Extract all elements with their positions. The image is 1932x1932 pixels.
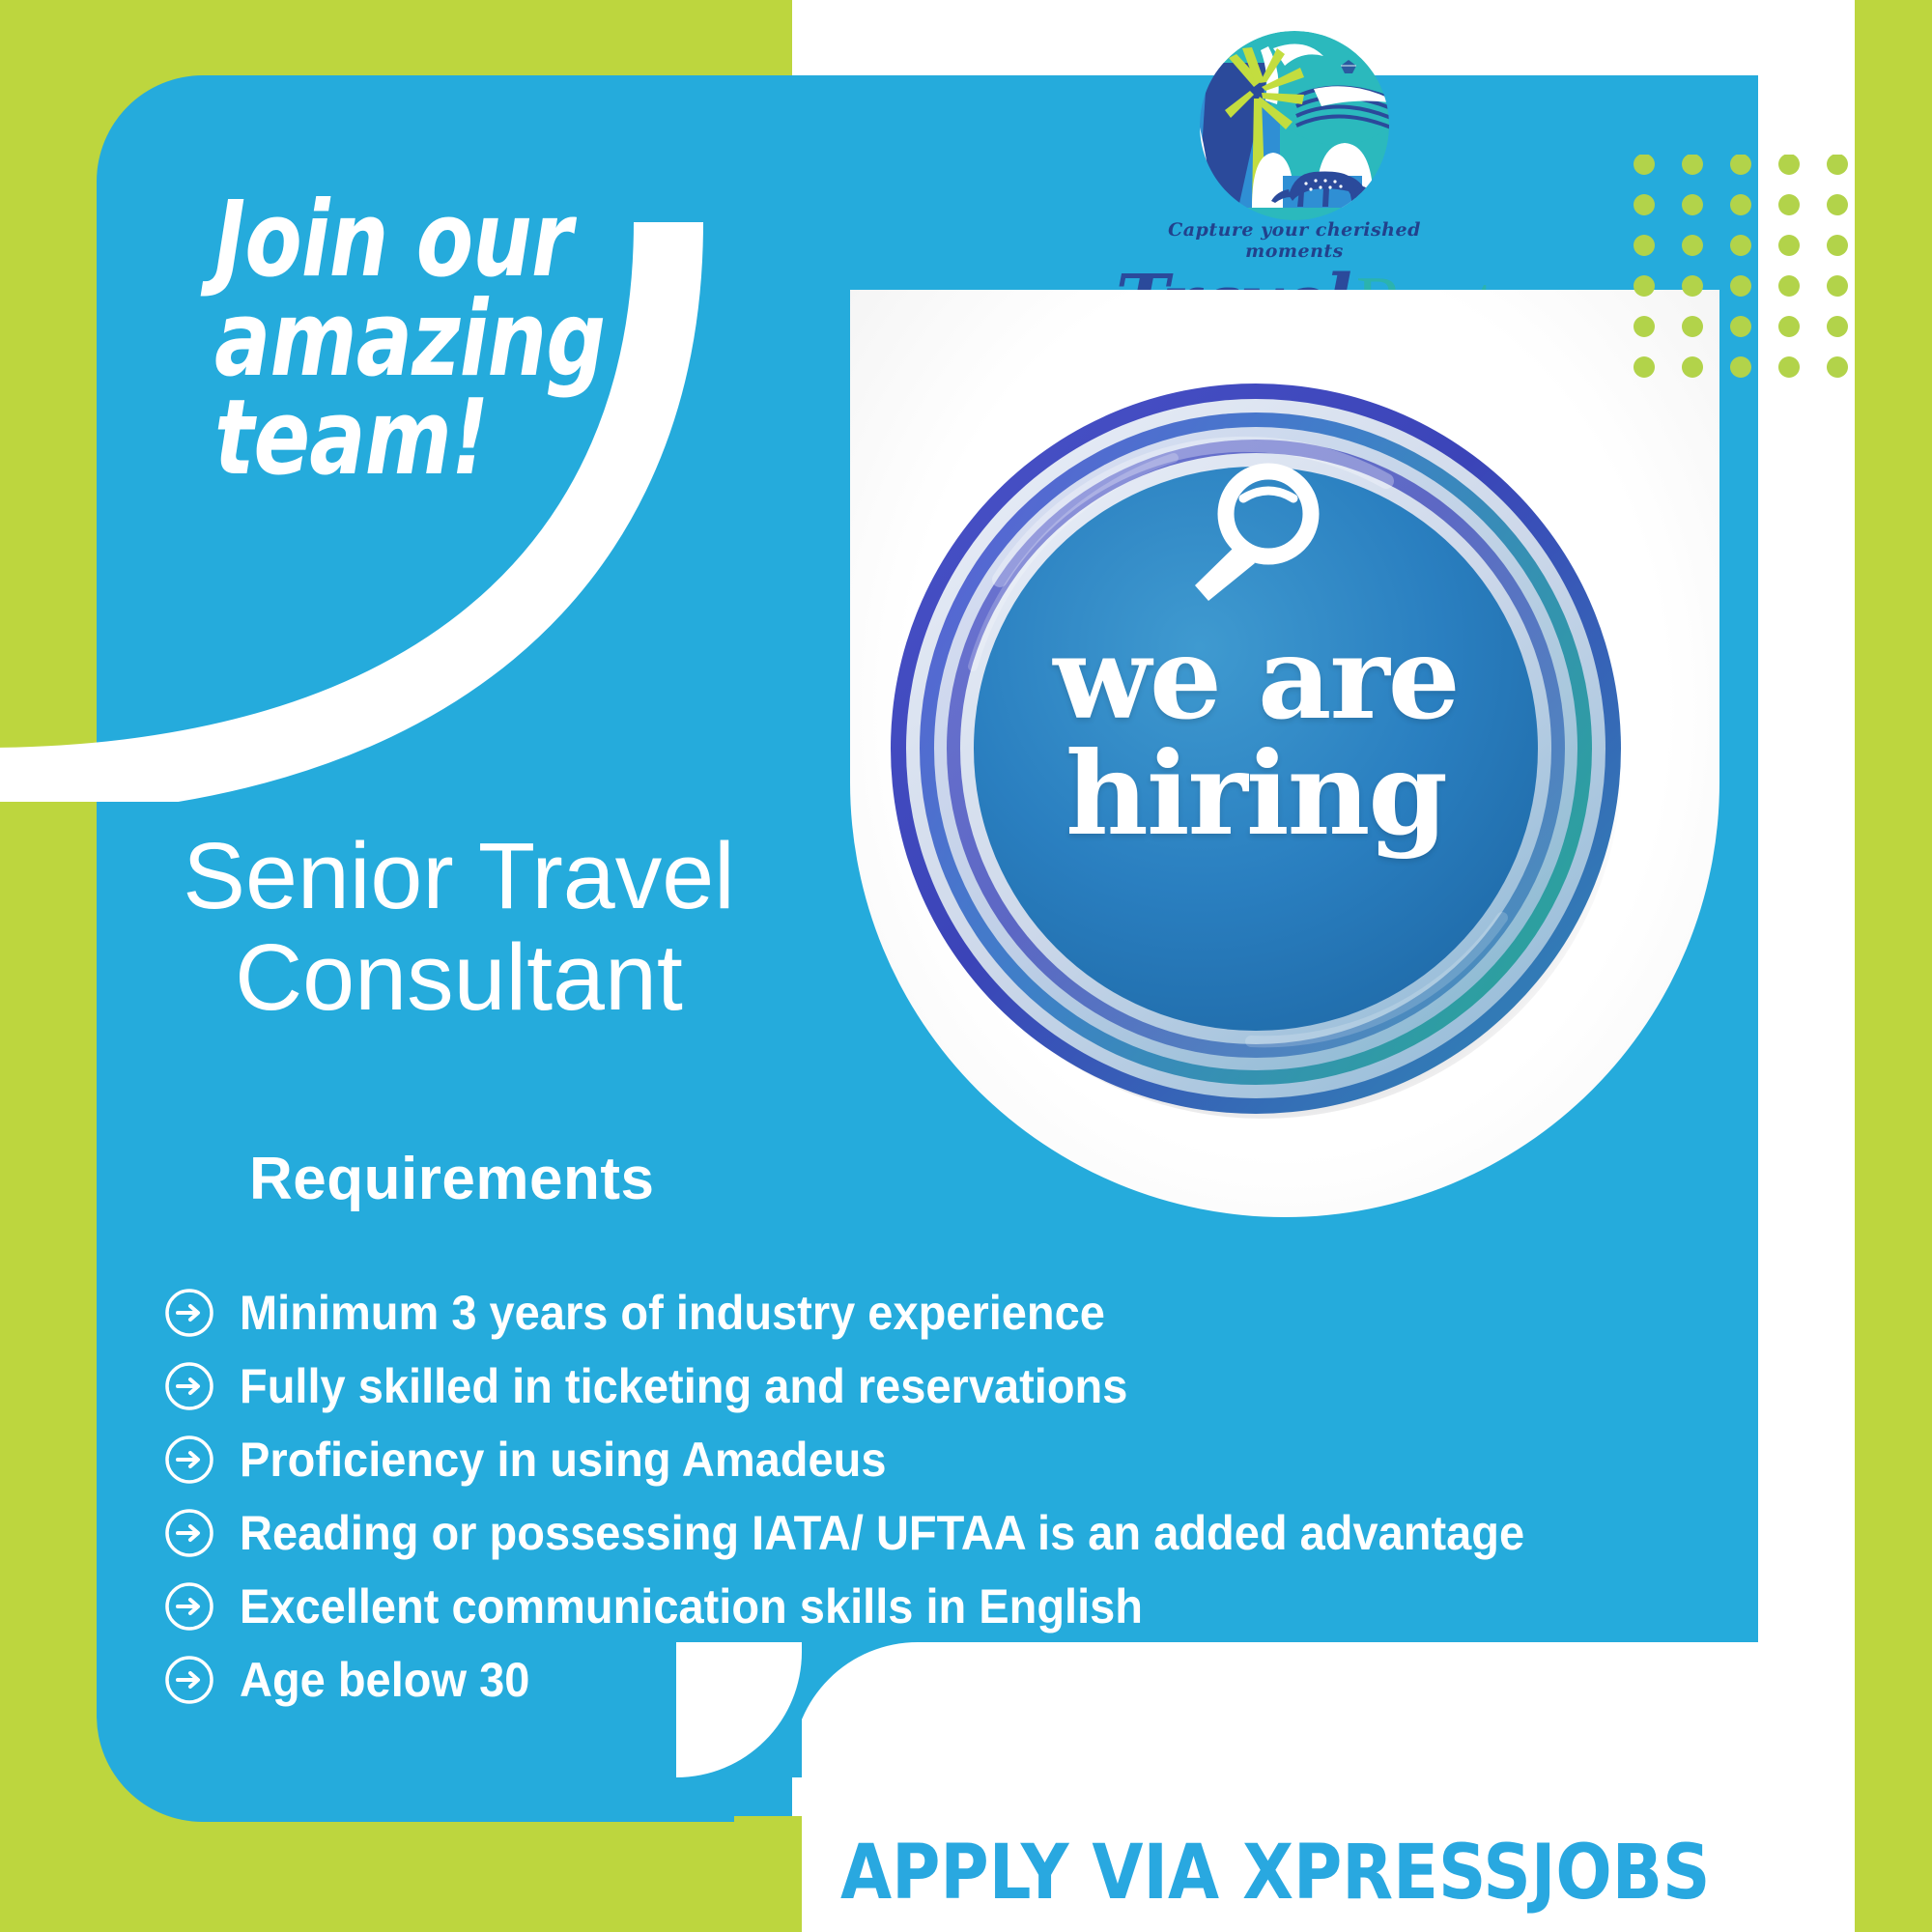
requirement-text: Minimum 3 years of industry experience bbox=[240, 1289, 1105, 1337]
requirement-text: Reading or possessing IATA/ UFTAA is an … bbox=[240, 1509, 1524, 1557]
requirements-list: Minimum 3 years of industry experience F… bbox=[164, 1285, 1729, 1725]
list-item: Minimum 3 years of industry experience bbox=[164, 1285, 1729, 1341]
we-are-hiring-badge: we are hiring bbox=[884, 377, 1628, 1121]
circle-arrow-right-icon bbox=[164, 1288, 214, 1338]
travel-roots-circle-logo-icon bbox=[1169, 29, 1420, 237]
requirement-text: Fully skilled in ticketing and reservati… bbox=[240, 1362, 1127, 1410]
requirements-heading: Requirements bbox=[249, 1145, 654, 1213]
list-item: Age below 30 bbox=[164, 1652, 1729, 1708]
list-item: Fully skilled in ticketing and reservati… bbox=[164, 1358, 1729, 1414]
magnifier-icon bbox=[1174, 454, 1338, 618]
requirement-text: Age below 30 bbox=[240, 1656, 529, 1704]
apply-cta[interactable]: APPLY VIA XPRESSJOBS bbox=[840, 1835, 1710, 1911]
footer-lime-strip bbox=[734, 1816, 802, 1932]
circle-arrow-right-icon bbox=[164, 1508, 214, 1558]
circle-arrow-right-icon bbox=[164, 1361, 214, 1411]
job-title: Senior Travel Consultant bbox=[126, 826, 792, 1029]
badge-text: we are hiring bbox=[884, 620, 1628, 853]
page-headline: Join our amazing team! bbox=[214, 191, 647, 489]
list-item: Excellent communication skills in Englis… bbox=[164, 1578, 1729, 1634]
logo-tagline: Capture your cherished moments bbox=[1116, 219, 1473, 262]
requirement-text: Proficiency in using Amadeus bbox=[240, 1435, 886, 1484]
requirement-text: Excellent communication skills in Englis… bbox=[240, 1582, 1143, 1631]
hiring-poster: Join our amazing team! Senior Travel Con… bbox=[0, 0, 1932, 1932]
list-item: Proficiency in using Amadeus bbox=[164, 1432, 1729, 1488]
circle-arrow-right-icon bbox=[164, 1655, 214, 1705]
dot-grid-icon bbox=[1633, 155, 1874, 406]
list-item: Reading or possessing IATA/ UFTAA is an … bbox=[164, 1505, 1729, 1561]
circle-arrow-right-icon bbox=[164, 1581, 214, 1632]
circle-arrow-right-icon bbox=[164, 1435, 214, 1485]
